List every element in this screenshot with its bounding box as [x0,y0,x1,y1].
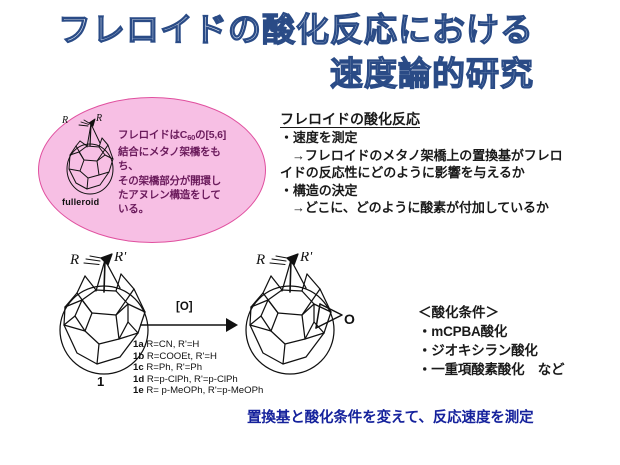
notes-line-3: ・構造の決定 [280,182,616,200]
fulleroid-mini-structure-icon: R R [60,114,122,200]
product-rprime-label: R' [299,252,313,265]
reactant-rprime-label: R' [113,252,127,265]
compound-tag-1: 1b [133,351,144,362]
compound-subs-1: R=COOEt, R'=H [147,351,217,362]
compound-tag-0: 1a [133,339,144,350]
compound-tag-4: 1e [133,385,144,396]
callout-body-text: フレロイドはC60の[5,6] 結合にメタノ架橋をもち、 その架橋部分が開環し … [118,128,240,216]
title-line-2: 速度論的研究 [330,52,534,96]
conditions-heading: ＜酸化条件＞ [418,303,564,322]
conclusion-text: 置換基と酸化条件を変えて、反応速度を測定 [247,406,534,427]
conditions-item-1: ・ジオキシラン酸化 [418,341,564,360]
reactant-number-label: 1 [97,374,104,389]
compound-subs-3: R=p-ClPh, R'=p-ClPh [147,374,238,385]
conditions-item-2: ・一重項酸素酸化 など [418,360,564,379]
notes-line-1: →フレロイドのメタノ架橋上の置換基がフレロ [280,147,616,165]
notes-line-4: →どこに、どのように酸素が付加しているか [280,199,616,217]
reagent-label: [O] [176,301,193,313]
fulleroid-caption: fulleroid [62,197,99,207]
notes-heading: フレロイドの酸化反応 [280,110,616,129]
reactant-r-label: R [69,252,79,268]
notes-line-0: ・速度を測定 [280,129,616,147]
slide-canvas: フレロイドの酸化反応における 速度論的研究 R R fulleroid フレロイ… [0,0,620,465]
mini-structure-r-label: R [61,115,68,126]
compound-tag-2: 1c [133,362,144,373]
slide-title: フレロイドの酸化反応における 速度論的研究 [0,8,620,100]
product-fulleroid-epoxide-structure-icon: R R' [236,252,356,378]
compound-subs-4: R= p-MeOPh, R'=p-MeOPh [146,385,263,396]
epoxide-oxygen-label: O [344,311,355,327]
callout-line-3: その架橋部分が開環し [118,175,221,187]
conditions-item-0: ・mCPBA酸化 [418,322,564,341]
oxidation-conditions-block: ＜酸化条件＞ ・mCPBA酸化 ・ジオキシラン酸化 ・一重項酸素酸化 など [418,303,564,379]
mini-structure-rprime-label: R [95,114,102,124]
callout-line-5: いる。 [118,203,149,215]
reaction-arrow-icon [140,316,238,334]
compound-tag-3: 1d [133,374,144,385]
oxidation-notes-block: フレロイドの酸化反応 ・速度を測定 →フレロイドのメタノ架橋上の置換基がフレロ … [280,110,616,217]
notes-line-2: イドの反応性にどのように影響を与えるか [280,164,616,182]
callout-line-1: フレロイドはC [118,129,187,141]
callout-line-2: 結合にメタノ架橋をもち、 [118,146,221,172]
callout-line-1b: の[5,6] [195,129,226,141]
compound-subs-2: R=Ph, R'=Ph [146,362,202,373]
callout-line-4: たアヌレン構造をして [118,189,221,201]
compound-row-4: 1e R= p-MeOPh, R'=p-MeOPh [133,385,263,397]
title-line-1: フレロイドの酸化反応における [58,8,534,52]
callout-c60-subscript: 60 [187,133,195,142]
product-r-label: R [255,252,265,268]
compound-subs-0: R=CN, R'=H [146,339,199,350]
